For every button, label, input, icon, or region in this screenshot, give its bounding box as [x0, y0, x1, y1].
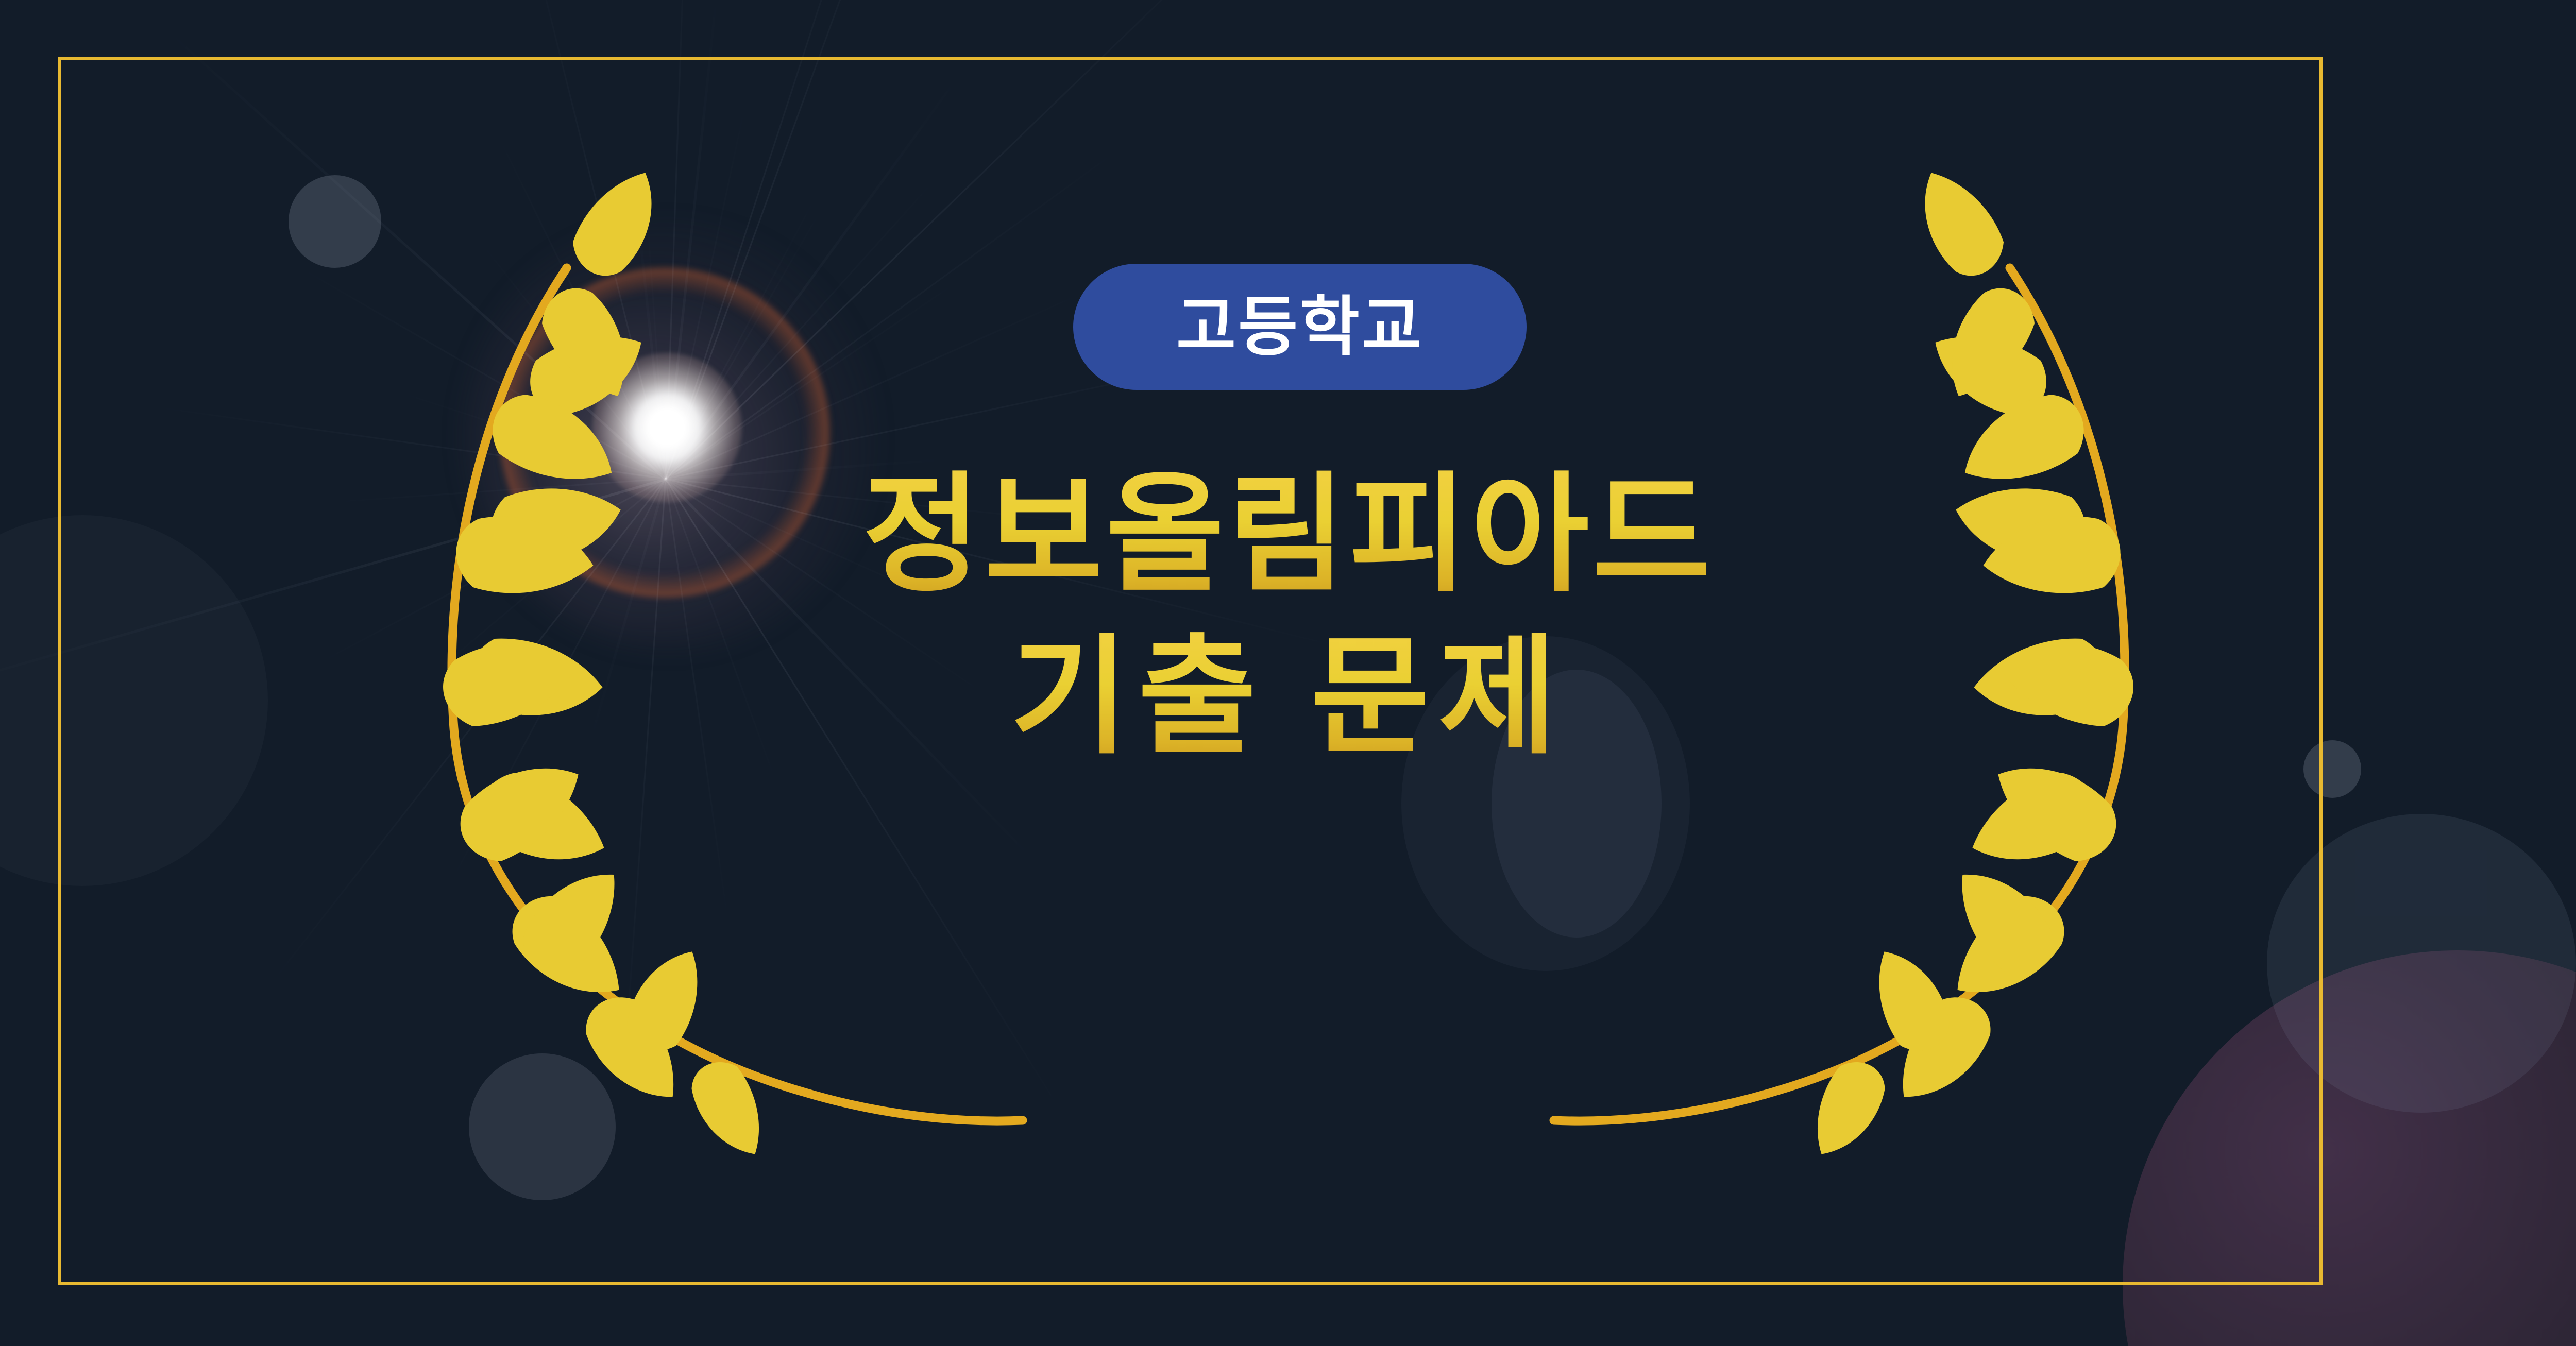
school-level-badge: 고등학교 — [1073, 264, 1527, 390]
title-line-1: 정보올림피아드 — [0, 453, 2576, 616]
school-level-badge-label: 고등학교 — [1176, 295, 1423, 360]
poster-canvas: 고등학교 정보올림피아드 기출 문제 — [0, 0, 2576, 1346]
poster-title: 정보올림피아드 기출 문제 — [0, 453, 2576, 778]
title-line-2: 기출 문제 — [0, 616, 2576, 778]
